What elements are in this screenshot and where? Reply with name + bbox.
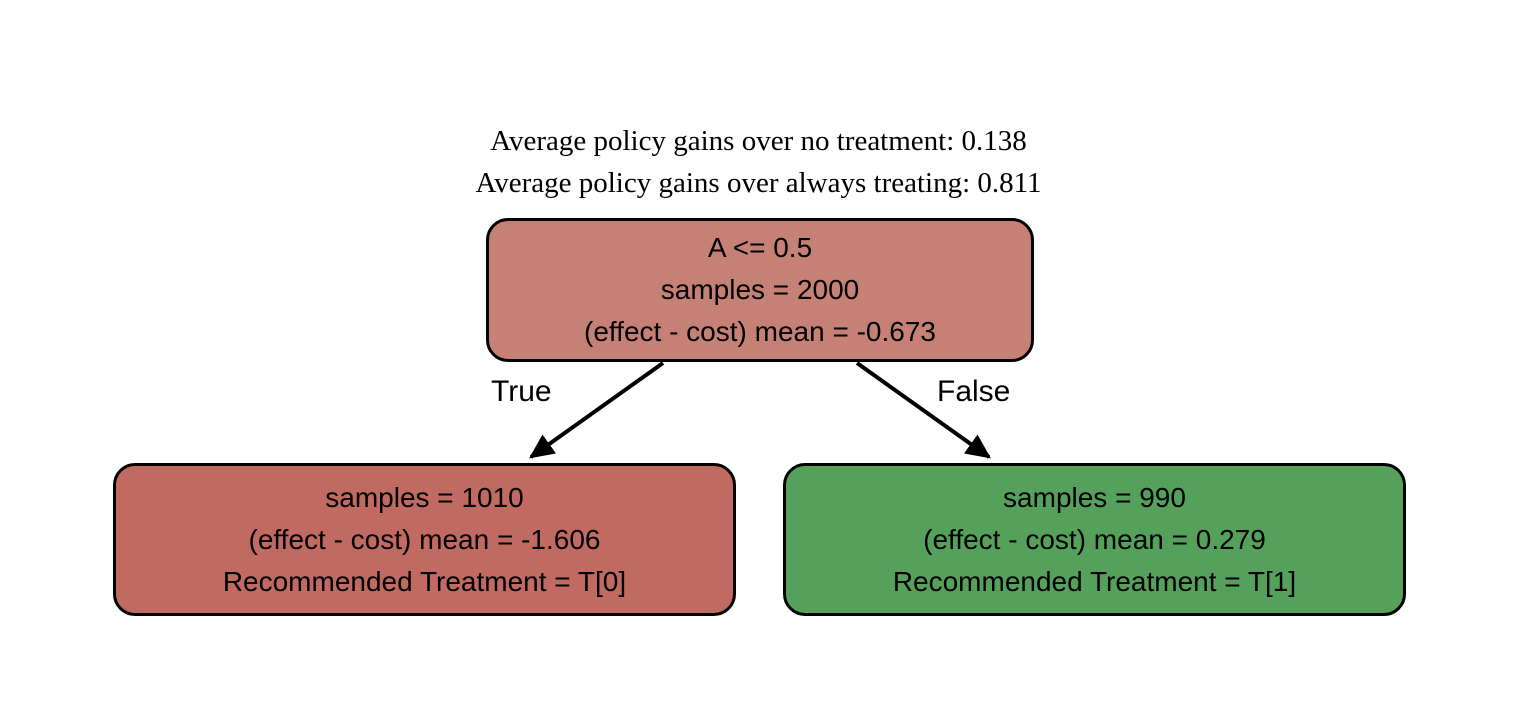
tree-node-leaf-right[interactable]: samples = 990 (effect - cost) mean = 0.2… xyxy=(783,463,1406,616)
tree-node-leaf-left[interactable]: samples = 1010 (effect - cost) mean = -1… xyxy=(113,463,736,616)
leaf-left-recommended-treatment: Recommended Treatment = T[0] xyxy=(223,561,626,603)
tree-node-root[interactable]: A <= 0.5 samples = 2000 (effect - cost) … xyxy=(486,218,1034,362)
title-line-always-treating: Average policy gains over always treatin… xyxy=(0,162,1517,204)
edge-label-true: True xyxy=(491,375,552,409)
root-split-condition: A <= 0.5 xyxy=(708,227,812,269)
root-effect-cost-mean: (effect - cost) mean = -0.673 xyxy=(584,311,936,353)
leaf-left-effect-cost-mean: (effect - cost) mean = -1.606 xyxy=(249,519,601,561)
title-line-no-treatment: Average policy gains over no treatment: … xyxy=(0,120,1517,162)
edge-label-false: False xyxy=(937,375,1010,409)
policy-tree-diagram: Average policy gains over no treatment: … xyxy=(0,0,1517,723)
diagram-title: Average policy gains over no treatment: … xyxy=(0,120,1517,204)
leaf-right-recommended-treatment: Recommended Treatment = T[1] xyxy=(893,561,1296,603)
leaf-left-samples: samples = 1010 xyxy=(325,477,523,519)
leaf-right-samples: samples = 990 xyxy=(1003,477,1186,519)
root-samples: samples = 2000 xyxy=(661,269,859,311)
leaf-right-effect-cost-mean: (effect - cost) mean = 0.279 xyxy=(923,519,1266,561)
